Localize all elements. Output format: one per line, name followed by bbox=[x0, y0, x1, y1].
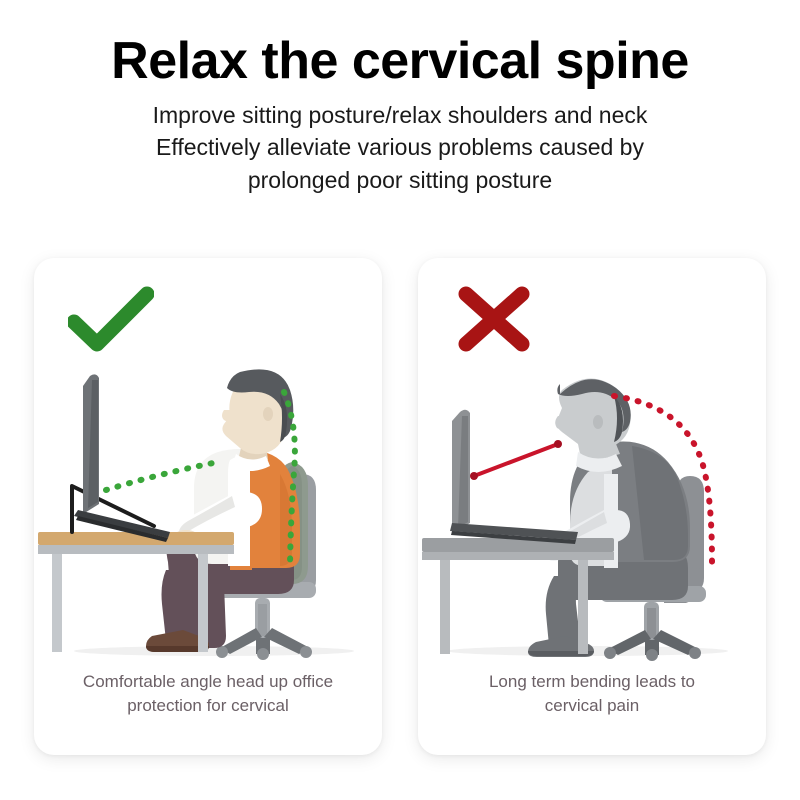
person-bad-posture bbox=[528, 378, 690, 657]
caption-line-1: Long term bending leads to bbox=[436, 670, 748, 695]
page-title: Relax the cervical spine bbox=[0, 34, 800, 89]
caption-line-2: protection for cervical bbox=[52, 694, 364, 719]
desk bbox=[38, 532, 234, 652]
illustration-bad-posture bbox=[418, 354, 766, 666]
caption-line-1: Comfortable angle head up office bbox=[52, 670, 364, 695]
check-mark-icon bbox=[68, 286, 154, 352]
guide-line-sightline bbox=[470, 440, 562, 480]
subtitle-line-2: Effectively alleviate various problems c… bbox=[0, 131, 800, 164]
caption-line-2: cervical pain bbox=[436, 694, 748, 719]
subtitle-line-1: Improve sitting posture/relax shoulders … bbox=[0, 99, 800, 132]
card-caption-correct: Comfortable angle head up office protect… bbox=[52, 670, 364, 719]
card-caption-incorrect: Long term bending leads to cervical pain bbox=[436, 670, 748, 719]
laptop-flat bbox=[450, 410, 578, 544]
subtitle-line-3: prolonged poor sitting posture bbox=[0, 164, 800, 197]
card-incorrect-posture: Long term bending leads to cervical pain bbox=[418, 258, 766, 755]
laptop-on-stand bbox=[72, 374, 170, 542]
cross-mark-icon bbox=[452, 286, 538, 352]
comparison-cards-row: Comfortable angle head up office protect… bbox=[0, 258, 800, 758]
header: Relax the cervical spine Improve sitting… bbox=[0, 0, 800, 197]
illustration-good-posture bbox=[34, 354, 382, 666]
desk bbox=[422, 538, 614, 654]
subtitle-block: Improve sitting posture/relax shoulders … bbox=[0, 99, 800, 197]
person-good-posture bbox=[146, 369, 300, 652]
card-correct-posture: Comfortable angle head up office protect… bbox=[34, 258, 382, 755]
